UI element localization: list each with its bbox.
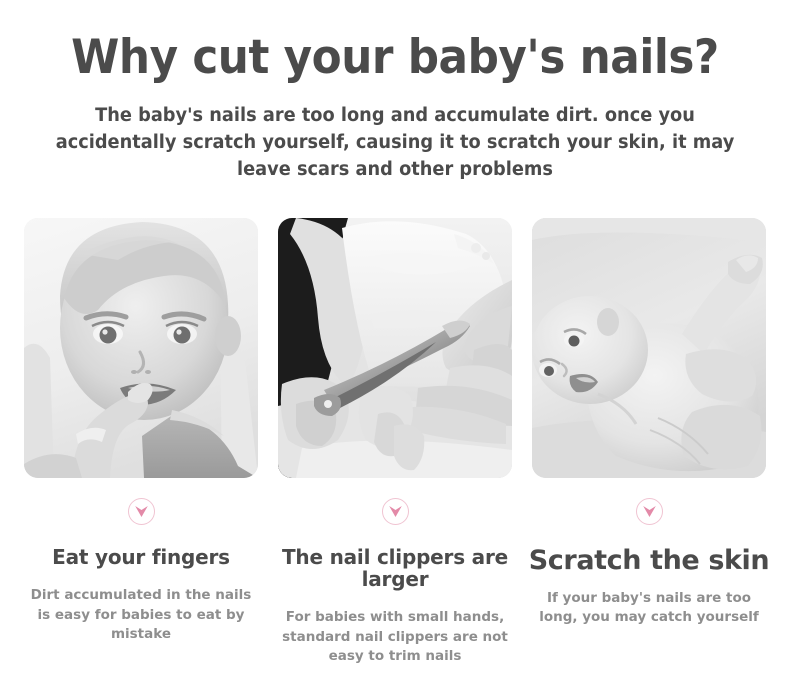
caption-card-2: The nail clippers are larger For babies …	[268, 498, 522, 667]
page-subtitle: The baby's nails are too long and accumu…	[51, 103, 738, 183]
chevron-down-icon	[382, 498, 409, 525]
caption-description: If your baby's nails are too long, you m…	[531, 589, 767, 628]
page-title: Why cut your baby's nails?	[28, 34, 763, 81]
caption-description: For babies with small hands, standard na…	[269, 608, 521, 667]
header: Why cut your baby's nails? The baby's na…	[0, 0, 790, 183]
photo-trimming-nails-with-clippers	[278, 218, 512, 478]
caption-heading: Scratch the skin	[529, 546, 769, 576]
caption-description: Dirt accumulated in the nails is easy fo…	[25, 586, 257, 645]
caption-card-1: Eat your fingers Dirt accumulated in the…	[14, 498, 268, 667]
caption-heading: Eat your fingers	[52, 546, 230, 568]
photo-baby-lying-down	[532, 218, 766, 478]
photo-row	[24, 218, 766, 478]
caption-card-3: Scratch the skin If your baby's nails ar…	[522, 498, 776, 667]
caption-heading: The nail clippers are larger	[268, 546, 522, 590]
chevron-down-icon	[128, 498, 155, 525]
infographic-page: Why cut your baby's nails? The baby's na…	[0, 0, 790, 674]
caption-row: Eat your fingers Dirt accumulated in the…	[14, 498, 776, 667]
chevron-down-icon	[636, 498, 663, 525]
photo-baby-finger-in-mouth	[24, 218, 258, 478]
